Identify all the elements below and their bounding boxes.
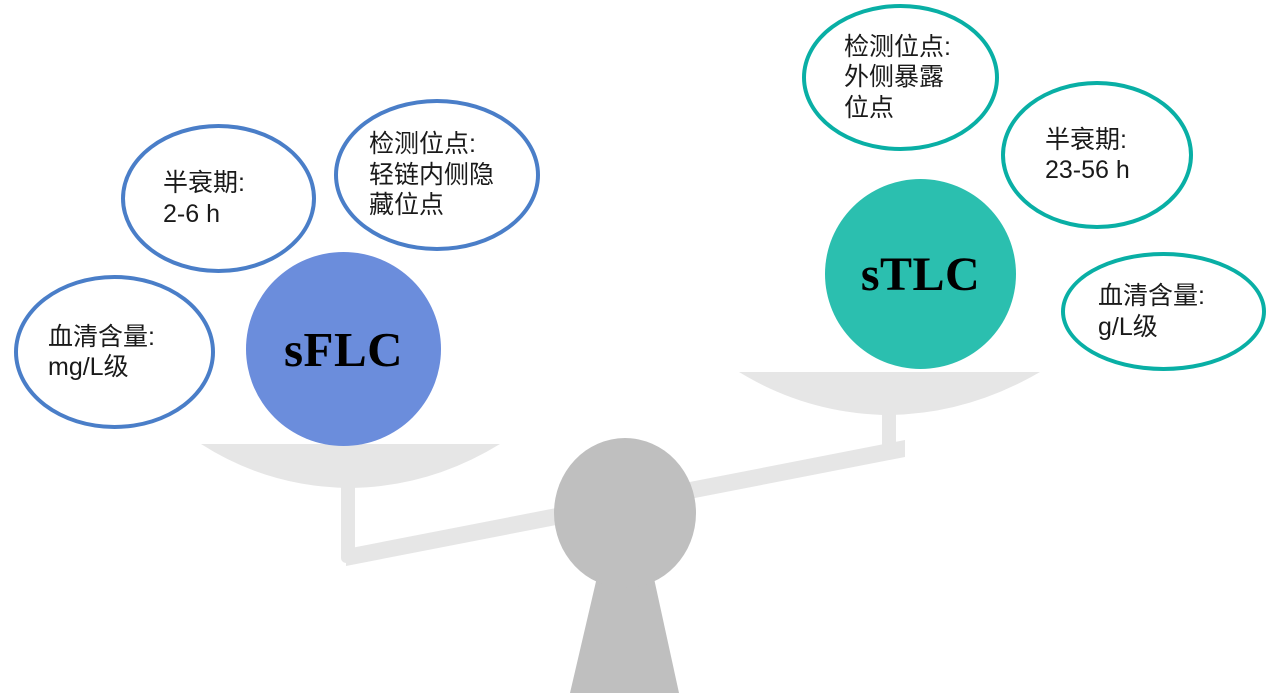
diagram-canvas: sFLC 血清含量: mg/L级 半衰期: 2-6 h 检测位点: 轻链内侧隐 … bbox=[0, 0, 1275, 693]
annotation-text-stlc-half-life: 半衰期: 23-56 h bbox=[1005, 125, 1130, 186]
annotation-text-sflc-serum-concentration: 血清含量: mg/L级 bbox=[18, 322, 155, 383]
annotation-bubble-sflc-half-life[interactable]: 半衰期: 2-6 h bbox=[121, 124, 316, 273]
annotation-text-sflc-half-life: 半衰期: 2-6 h bbox=[125, 168, 245, 229]
scale-left-pan bbox=[201, 444, 500, 488]
annotation-bubble-stlc-detection-epitope[interactable]: 检测位点: 外侧暴露 位点 bbox=[802, 4, 999, 151]
annotation-text-sflc-detection-epitope: 检测位点: 轻链内侧隐 藏位点 bbox=[338, 129, 494, 221]
scale-fulcrum-head bbox=[554, 438, 696, 588]
annotation-bubble-stlc-serum-concentration[interactable]: 血清含量: g/L级 bbox=[1061, 252, 1266, 371]
substance-label-stlc: sTLC bbox=[861, 247, 980, 302]
annotation-text-stlc-detection-epitope: 检测位点: 外侧暴露 位点 bbox=[806, 32, 951, 124]
annotation-bubble-sflc-serum-concentration[interactable]: 血清含量: mg/L级 bbox=[14, 275, 215, 429]
substance-circle-sflc[interactable]: sFLC bbox=[246, 252, 441, 446]
substance-circle-stlc[interactable]: sTLC bbox=[825, 179, 1016, 369]
substance-label-sflc: sFLC bbox=[284, 321, 403, 378]
annotation-text-stlc-serum-concentration: 血清含量: g/L级 bbox=[1065, 281, 1205, 342]
annotation-bubble-stlc-half-life[interactable]: 半衰期: 23-56 h bbox=[1001, 81, 1193, 229]
annotation-bubble-sflc-detection-epitope[interactable]: 检测位点: 轻链内侧隐 藏位点 bbox=[334, 99, 540, 251]
scale-right-pan bbox=[739, 372, 1040, 415]
